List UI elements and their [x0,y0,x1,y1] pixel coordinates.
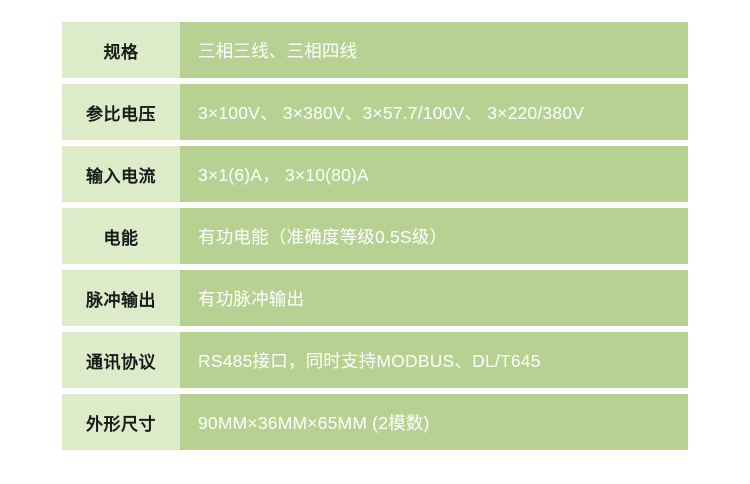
spec-value-cell: 有功脉冲输出 [180,270,688,326]
specification-table: 规格 三相三线、三相四线 参比电压 3×100V、 3×380V、3×57.7/… [62,22,688,450]
spec-value-cell: 有功电能（准确度等级0.5S级） [180,208,688,264]
spec-value-cell: 90MM×36MM×65MM (2模数) [180,394,688,450]
spec-label-cell: 参比电压 [62,84,180,140]
spec-label-cell: 电能 [62,208,180,264]
spec-label-cell: 脉冲输出 [62,270,180,326]
table-row: 规格 三相三线、三相四线 [62,22,688,78]
spec-label-cell: 规格 [62,22,180,78]
table-row: 输入电流 3×1(6)A， 3×10(80)A [62,146,688,202]
table-row: 参比电压 3×100V、 3×380V、3×57.7/100V、 3×220/3… [62,84,688,140]
spec-label-cell: 输入电流 [62,146,180,202]
spec-value-cell: RS485接口，同时支持MODBUS、DL/T645 [180,332,688,388]
spec-value-cell: 3×1(6)A， 3×10(80)A [180,146,688,202]
table-row: 外形尺寸 90MM×36MM×65MM (2模数) [62,394,688,450]
table-row: 通讯协议 RS485接口，同时支持MODBUS、DL/T645 [62,332,688,388]
table-row: 脉冲输出 有功脉冲输出 [62,270,688,326]
table-row: 电能 有功电能（准确度等级0.5S级） [62,208,688,264]
spec-value-cell: 3×100V、 3×380V、3×57.7/100V、 3×220/380V [180,84,688,140]
spec-value-cell: 三相三线、三相四线 [180,22,688,78]
spec-label-cell: 外形尺寸 [62,394,180,450]
spec-label-cell: 通讯协议 [62,332,180,388]
